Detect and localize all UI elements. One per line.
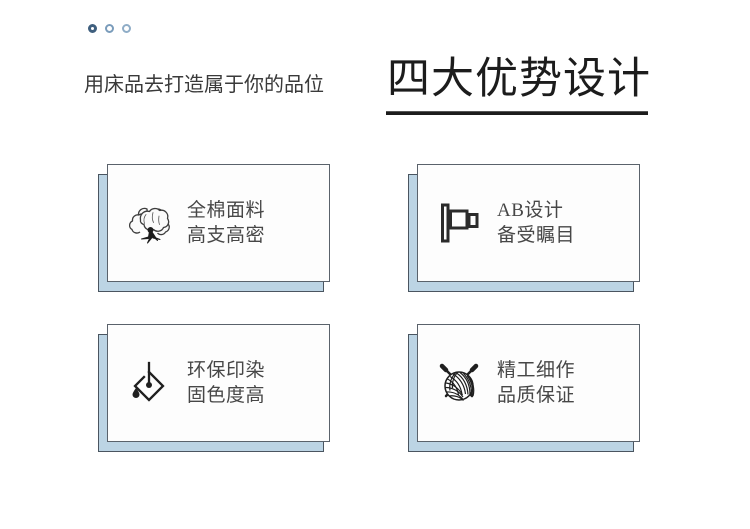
feature-card-cotton[interactable]: 全棉面料 高支高密 xyxy=(98,164,330,286)
promo-banner: 用床品去打造属于你的品位 四大优势设计 xyxy=(0,0,750,529)
ink-dye-diamond-icon xyxy=(124,358,174,408)
card-face: 精工细作 品质保证 xyxy=(417,324,640,442)
feature-card-ab-design[interactable]: AB设计 备受瞩目 xyxy=(408,164,640,286)
dot-2-icon xyxy=(105,24,114,33)
feature-card-grid: 全棉面料 高支高密 xyxy=(0,152,750,482)
feature-card-eco-dye[interactable]: 环保印染 固色度高 xyxy=(98,324,330,446)
card-label-line2: 固色度高 xyxy=(187,383,265,408)
yarn-ball-needles-icon xyxy=(434,358,484,408)
dot-3-icon xyxy=(122,24,131,33)
title-underline-divider xyxy=(386,111,648,115)
card-label-line2: 备受瞩目 xyxy=(497,223,575,248)
card-face: 环保印染 固色度高 xyxy=(107,324,330,442)
card-face: 全棉面料 高支高密 xyxy=(107,164,330,282)
cotton-boll-icon xyxy=(124,198,174,248)
flag-banner-icon xyxy=(434,198,484,248)
title-block: 四大优势设计 xyxy=(386,56,652,115)
card-label: 全棉面料 高支高密 xyxy=(187,198,265,248)
page-title: 四大优势设计 xyxy=(386,56,652,104)
dot-1-icon xyxy=(88,24,97,33)
card-label-line2: 高支高密 xyxy=(187,223,265,248)
decorative-dots xyxy=(88,24,131,33)
card-label-line1: 精工细作 xyxy=(497,360,575,381)
card-label-line1: 全棉面料 xyxy=(187,200,265,221)
card-label-line1: AB设计 xyxy=(497,200,563,221)
feature-card-craftsmanship[interactable]: 精工细作 品质保证 xyxy=(408,324,640,446)
card-label-line1: 环保印染 xyxy=(187,360,265,381)
subtitle: 用床品去打造属于你的品位 xyxy=(84,68,324,97)
card-label-line2: 品质保证 xyxy=(497,383,575,408)
header: 用床品去打造属于你的品位 四大优势设计 xyxy=(0,56,750,126)
card-label: AB设计 备受瞩目 xyxy=(497,198,575,248)
card-face: AB设计 备受瞩目 xyxy=(417,164,640,282)
card-label: 精工细作 品质保证 xyxy=(497,358,575,408)
card-label: 环保印染 固色度高 xyxy=(187,358,265,408)
